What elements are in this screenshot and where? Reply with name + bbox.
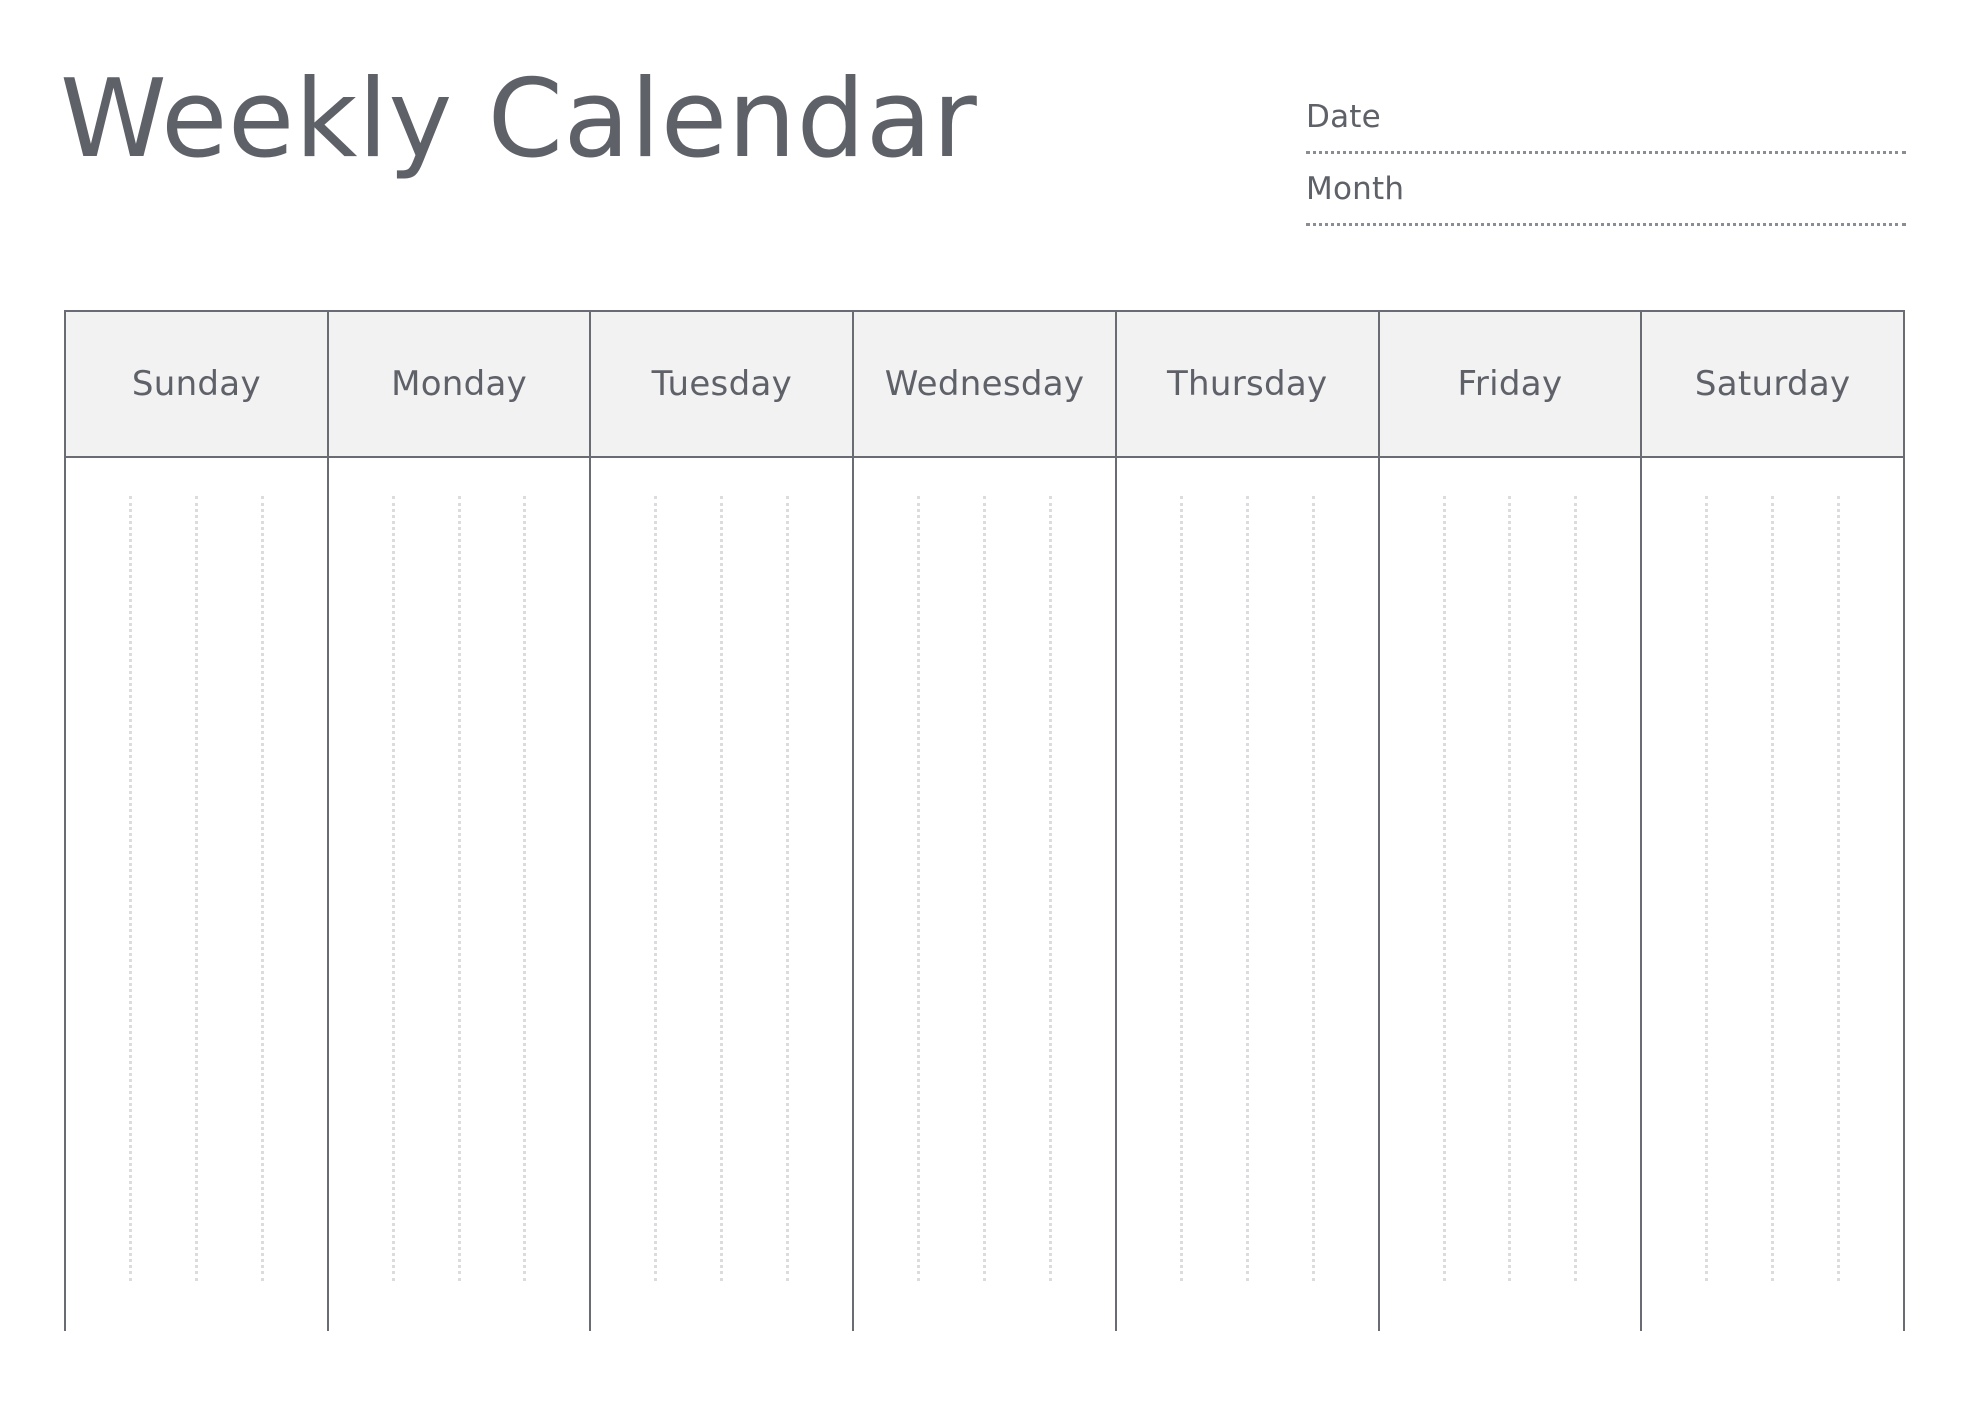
calendar-header-row: Sunday Monday Tuesday Wednesday Thursday… <box>66 312 1903 458</box>
calendar-page: Weekly Calendar Date Month Sunday Monday… <box>0 0 1968 1424</box>
day-column-sunday[interactable] <box>66 458 329 1331</box>
month-field-dotted-line[interactable] <box>1306 223 1906 226</box>
day-header-label: Friday <box>1458 364 1563 404</box>
guide-line <box>195 496 198 1281</box>
day-header-thursday: Thursday <box>1117 312 1380 456</box>
guide-line <box>654 496 657 1281</box>
day-header-monday: Monday <box>329 312 592 456</box>
day-header-label: Sunday <box>132 364 261 404</box>
writing-guide-lines <box>591 496 852 1281</box>
date-field-row[interactable]: Date <box>1306 98 1906 170</box>
guide-line <box>392 496 395 1281</box>
day-column-monday[interactable] <box>329 458 592 1331</box>
day-header-sunday: Sunday <box>66 312 329 456</box>
day-header-label: Saturday <box>1695 364 1851 404</box>
guide-line <box>1246 496 1249 1281</box>
day-header-friday: Friday <box>1380 312 1643 456</box>
guide-line <box>1574 496 1577 1281</box>
day-column-friday[interactable] <box>1380 458 1643 1331</box>
calendar-body-row <box>66 458 1903 1331</box>
day-header-tuesday: Tuesday <box>591 312 854 456</box>
day-header-saturday: Saturday <box>1642 312 1903 456</box>
guide-line <box>129 496 132 1281</box>
guide-line <box>523 496 526 1281</box>
writing-guide-lines <box>1380 496 1641 1281</box>
day-column-saturday[interactable] <box>1642 458 1903 1331</box>
meta-fields: Date Month <box>1306 98 1906 242</box>
writing-guide-lines <box>1117 496 1378 1281</box>
guide-line <box>983 496 986 1281</box>
date-field-dotted-line[interactable] <box>1306 151 1906 154</box>
guide-line <box>1049 496 1052 1281</box>
page-title: Weekly Calendar <box>60 58 977 182</box>
guide-line <box>1443 496 1446 1281</box>
day-column-thursday[interactable] <box>1117 458 1380 1331</box>
writing-guide-lines <box>329 496 590 1281</box>
writing-guide-lines <box>66 496 327 1281</box>
month-field-row[interactable]: Month <box>1306 170 1906 242</box>
day-header-label: Tuesday <box>652 364 792 404</box>
guide-line <box>786 496 789 1281</box>
guide-line <box>261 496 264 1281</box>
day-header-label: Monday <box>391 364 527 404</box>
guide-line <box>1771 496 1774 1281</box>
guide-line <box>1508 496 1511 1281</box>
guide-line <box>720 496 723 1281</box>
page-header: Weekly Calendar Date Month <box>0 0 1968 250</box>
writing-guide-lines <box>854 496 1115 1281</box>
guide-line <box>1180 496 1183 1281</box>
day-column-tuesday[interactable] <box>591 458 854 1331</box>
weekly-calendar-table: Sunday Monday Tuesday Wednesday Thursday… <box>64 310 1905 1331</box>
day-column-wednesday[interactable] <box>854 458 1117 1331</box>
guide-line <box>1705 496 1708 1281</box>
month-field-label: Month <box>1306 170 1906 208</box>
writing-guide-lines <box>1642 496 1903 1281</box>
day-header-label: Wednesday <box>885 364 1085 404</box>
guide-line <box>917 496 920 1281</box>
guide-line <box>1312 496 1315 1281</box>
guide-line <box>1837 496 1840 1281</box>
date-field-label: Date <box>1306 98 1906 136</box>
day-header-label: Thursday <box>1167 364 1328 404</box>
guide-line <box>458 496 461 1281</box>
day-header-wednesday: Wednesday <box>854 312 1117 456</box>
